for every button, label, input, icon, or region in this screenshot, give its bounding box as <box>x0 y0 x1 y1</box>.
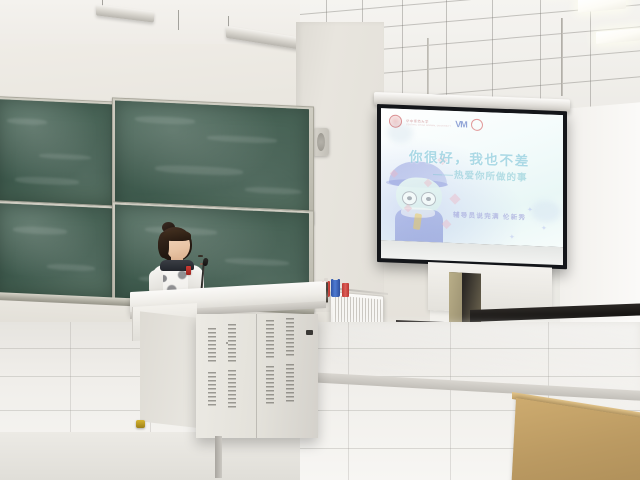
cabinet-lock-icon[interactable] <box>306 330 313 335</box>
console-side-panel <box>140 311 198 428</box>
screen-suspension-rod <box>561 18 563 96</box>
university-name: 华中师范大学 CENTRAL CHINA NORMAL UNIVERSITY <box>406 118 451 128</box>
vent-slots <box>208 328 216 364</box>
projection-screen[interactable]: 华中师范大学 CENTRAL CHINA NORMAL UNIVERSITY V… <box>377 104 567 269</box>
sparkle-icon: ✦ <box>527 206 533 214</box>
console-foot <box>215 436 222 478</box>
vent-slots <box>208 372 216 408</box>
red-ring-emblem-icon <box>471 118 483 130</box>
console-cabinet[interactable] <box>196 314 318 438</box>
bottle-blue[interactable] <box>331 279 340 297</box>
vent-slots <box>266 366 274 404</box>
mascot-eye <box>421 192 436 207</box>
vent-slots <box>266 320 274 358</box>
door-leaf[interactable] <box>449 272 462 323</box>
screen-surface: 华中师范大学 CENTRAL CHINA NORMAL UNIVERSITY V… <box>381 108 563 247</box>
chalkboard-panel <box>0 203 115 298</box>
vent-slots <box>228 324 236 362</box>
panel-light-icon <box>578 0 626 13</box>
slide-presenter-line: 辅导员说完满 伦新秀 <box>453 209 526 222</box>
presentation-slide: 华中师范大学 CENTRAL CHINA NORMAL UNIVERSITY V… <box>381 108 563 247</box>
bottle-red-small[interactable] <box>342 283 349 297</box>
lapel-badge-icon <box>186 266 191 275</box>
chalkboard-panel <box>0 99 115 206</box>
eye <box>198 255 203 257</box>
screen-suspension-rod <box>427 38 429 96</box>
sparkle-icon: ✦ <box>509 233 515 241</box>
hair-fringe <box>163 230 191 241</box>
university-seal-icon <box>389 114 402 127</box>
classroom-photo-scene: 华中师范大学 CENTRAL CHINA NORMAL UNIVERSITY V… <box>0 0 640 480</box>
university-name-en: CENTRAL CHINA NORMAL UNIVERSITY <box>406 124 451 128</box>
wall-speaker-icon <box>313 128 329 156</box>
vent-slots <box>228 370 236 408</box>
cabinet-latch-icon[interactable] <box>136 420 145 428</box>
vm-mark: VM <box>455 119 467 129</box>
sparkle-icon: ✦ <box>541 224 547 232</box>
vent-slots <box>286 364 294 402</box>
dais-front-face <box>0 432 300 480</box>
chalkboard-panel <box>115 100 309 219</box>
vent-slots <box>286 318 294 356</box>
panel-light-icon <box>596 28 640 44</box>
mascot-eye <box>402 191 417 206</box>
